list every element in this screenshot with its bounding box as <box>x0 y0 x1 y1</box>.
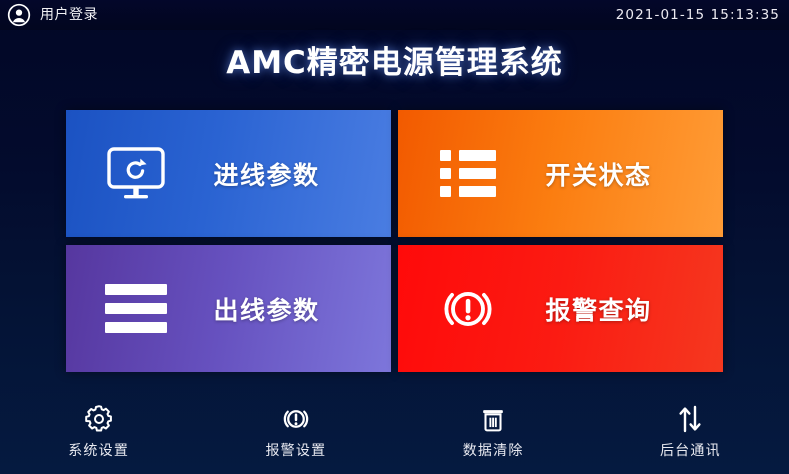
bars-icon <box>102 275 170 343</box>
up-down-arrows-icon <box>673 402 707 436</box>
toolbar-item-system-settings[interactable]: 系统设置 <box>0 392 197 474</box>
toolbar-label: 数据清除 <box>463 444 524 458</box>
datetime-display: 2021-01-15 15:13:35 <box>616 7 780 23</box>
tile-outgoing-line-parameters[interactable]: 出线参数 <box>66 245 391 372</box>
tile-incoming-line-parameters[interactable]: 进线参数 <box>66 110 391 237</box>
user-circle-icon <box>7 3 31 27</box>
page-title: AMC精密电源管理系统 <box>0 48 789 79</box>
user-login-label: 用户登录 <box>40 8 98 22</box>
header-bar: 用户登录 2021-01-15 15:13:35 <box>0 0 789 30</box>
toolbar-label: 后台通讯 <box>660 444 721 458</box>
list-icon <box>434 140 502 208</box>
main-menu-grid: 进线参数 开关状态 出线参数 <box>66 110 723 372</box>
monitor-icon <box>102 140 170 208</box>
amc-power-management-home: 用户登录 2021-01-15 15:13:35 AMC精密电源管理系统 进线参… <box>0 0 789 474</box>
gear-icon <box>82 402 116 436</box>
toolbar-item-alarm-settings[interactable]: 报警设置 <box>197 392 394 474</box>
alarm-icon <box>279 402 313 436</box>
tile-switch-status[interactable]: 开关状态 <box>398 110 723 237</box>
bottom-toolbar: 系统设置 报警设置 <box>0 392 789 474</box>
toolbar-label: 系统设置 <box>68 444 129 458</box>
toolbar-label: 报警设置 <box>265 444 326 458</box>
tile-label: 报警查询 <box>502 291 723 327</box>
toolbar-item-data-clear[interactable]: 数据清除 <box>395 392 592 474</box>
trash-icon <box>476 402 510 436</box>
tile-label: 出线参数 <box>170 291 391 327</box>
alarm-icon <box>434 275 502 343</box>
tile-alarm-query[interactable]: 报警查询 <box>398 245 723 372</box>
user-login-button[interactable]: 用户登录 <box>0 3 98 27</box>
tile-label: 进线参数 <box>170 156 391 192</box>
toolbar-item-background-communication[interactable]: 后台通讯 <box>592 392 789 474</box>
tile-label: 开关状态 <box>502 156 723 192</box>
